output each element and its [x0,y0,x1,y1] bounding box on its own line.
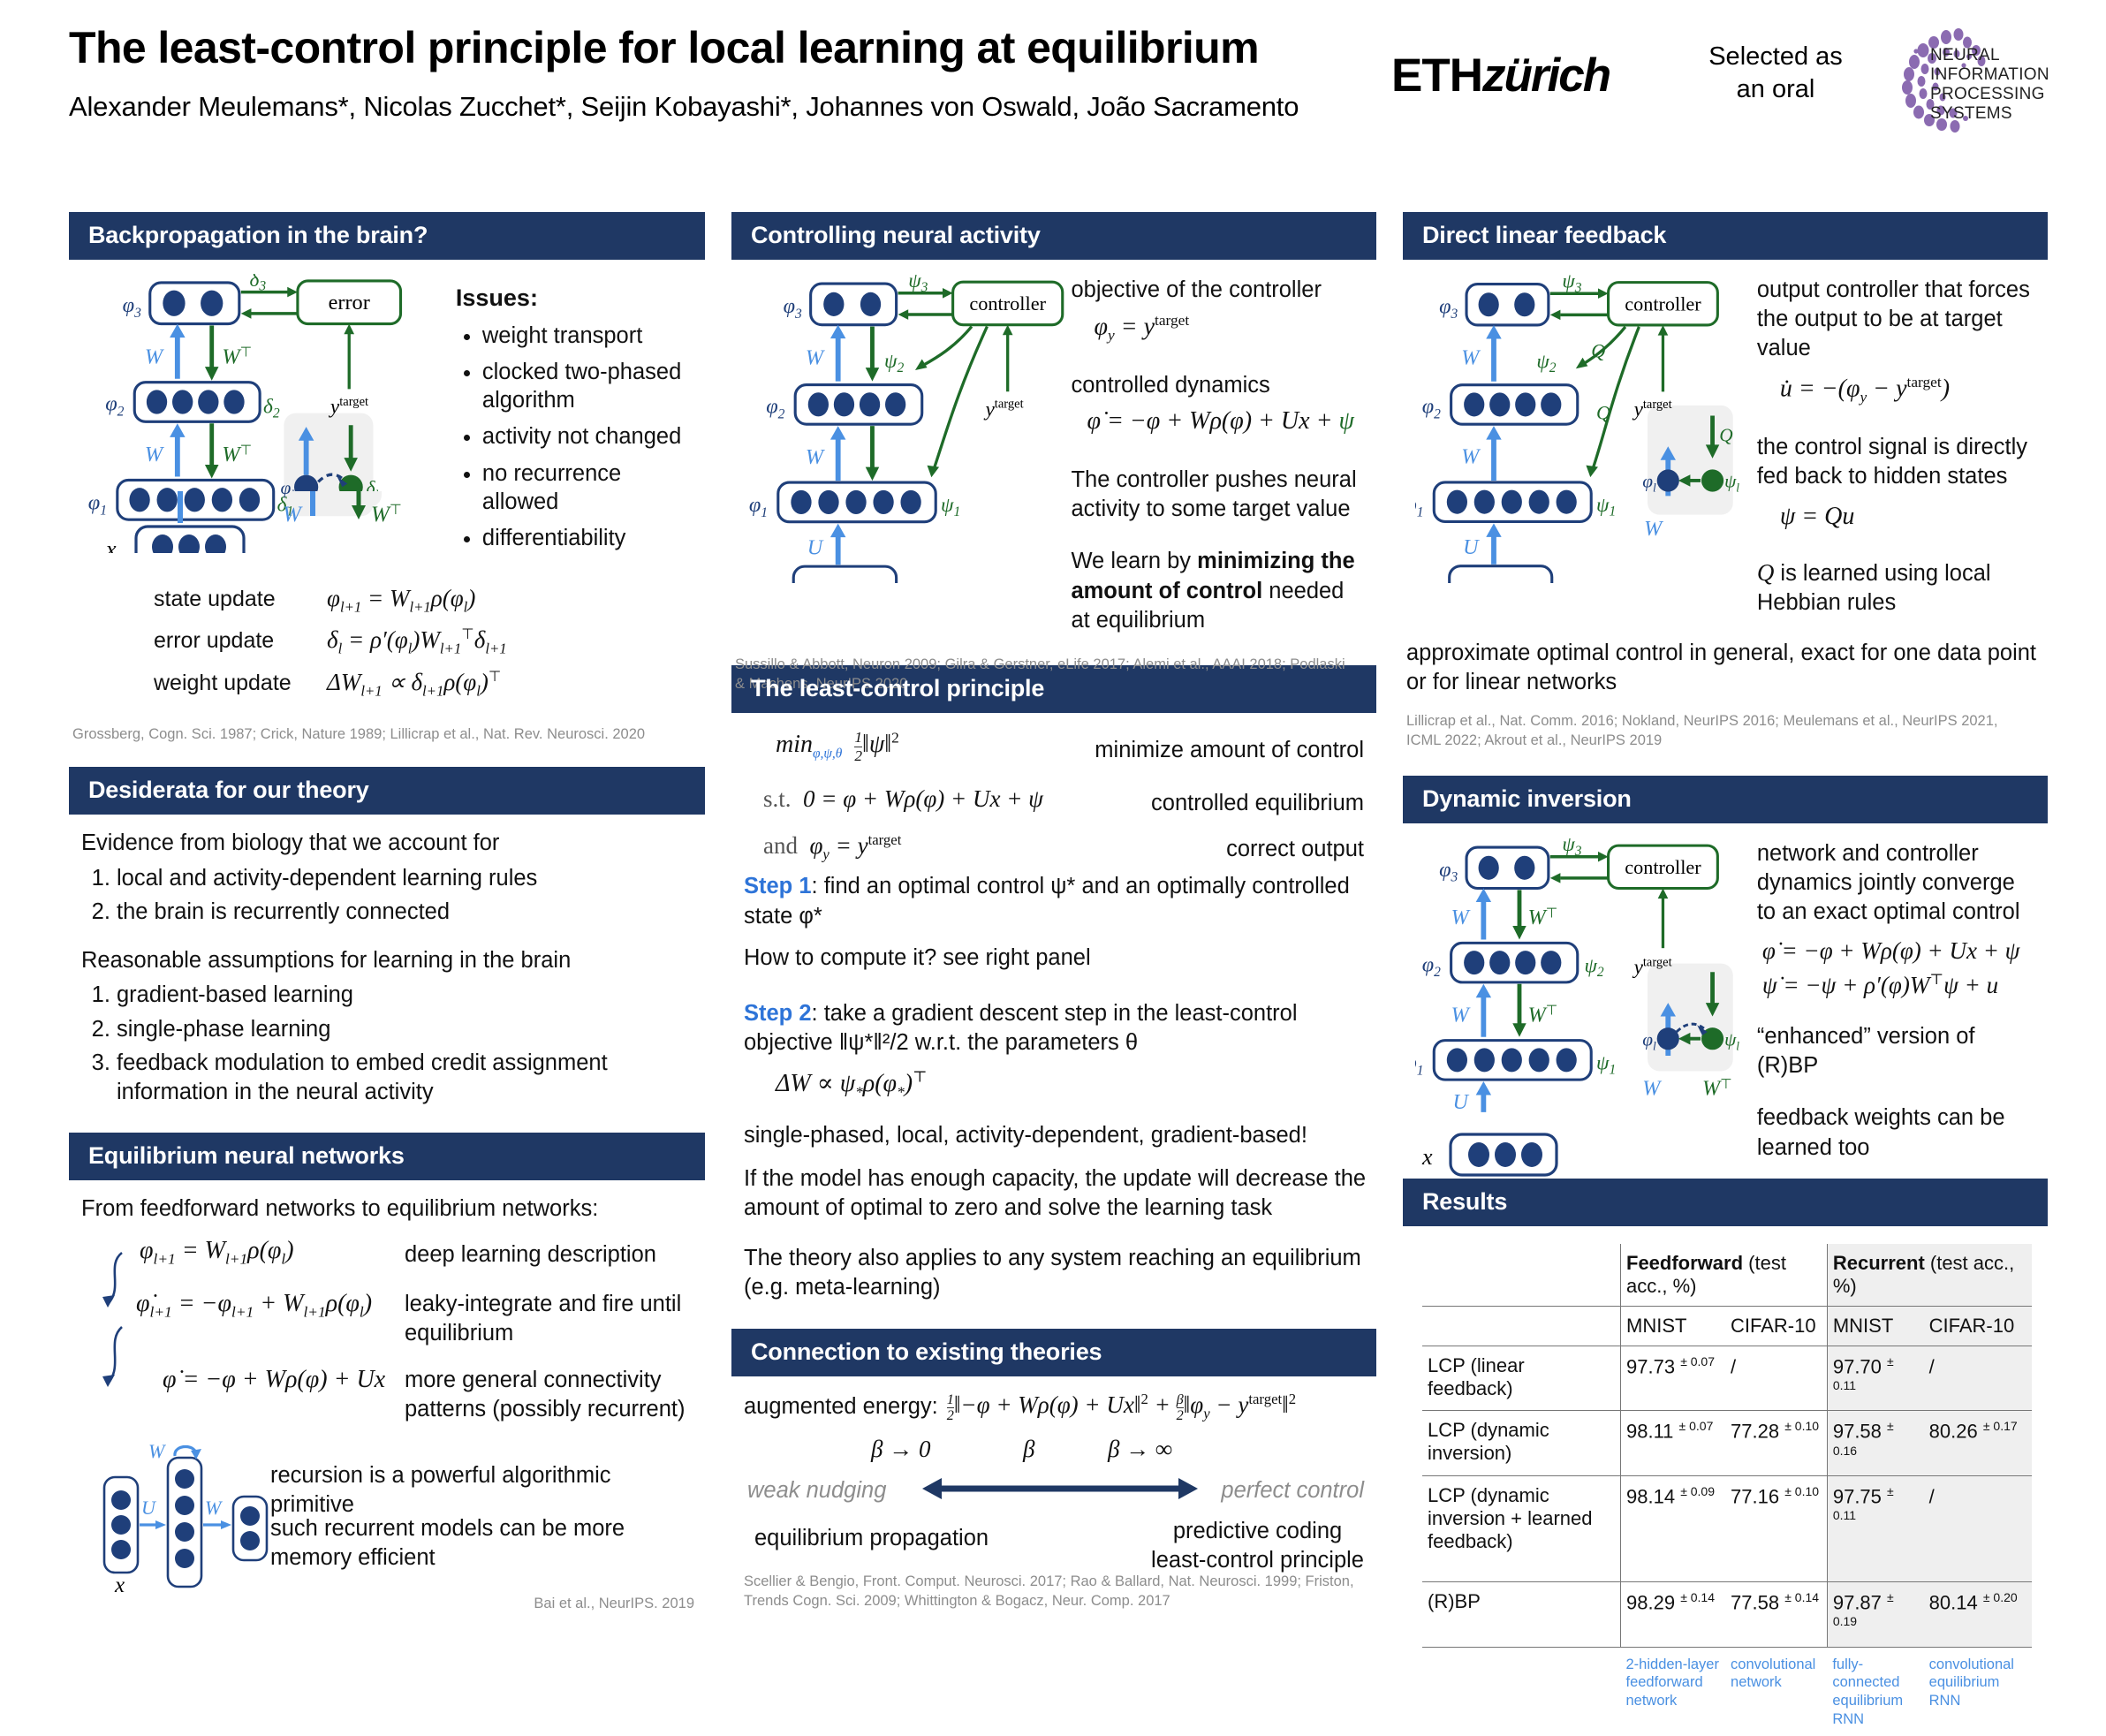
equilibrium-equation-1: φl+1 = Wl+1ρ(φl) [140,1237,294,1269]
svg-text:ψ1: ψ1 [941,494,960,519]
svg-text:Q: Q [1719,425,1732,446]
dlf-psi-equation: ψ = Qu [1780,503,2039,531]
table-column-header-row: MNIST CIFAR-10 MNIST CIFAR-10 [1422,1306,2032,1346]
neurips-wordmark: NEURAL INFORMATION PROCESSING SYSTEMS [1930,46,2049,124]
issues-title: Issues: [456,283,696,314]
cell-error: ± 0.14 [1680,1590,1715,1604]
dyninv-body: φ3 controller ψ3 ytarget W W⊤ [1403,823,2048,1163]
controlling-p2-pre: We learn by [1071,549,1197,573]
list-item: feedback modulation to embed credit assi… [117,1049,696,1106]
dlf-reference: Lillicrap et al., Nat. Comm. 2016; Nokla… [1403,697,2034,751]
eth-logo-italic: zürich [1482,49,1610,102]
controlled-dynamics-label: controlled dynamics [1071,371,1367,400]
table-row: LCP (dynamic inversion + learned feedbac… [1422,1476,2032,1582]
cell-number: 97.58 [1833,1421,1882,1443]
svg-text:W: W [205,1497,223,1519]
section-connection: Connection to existing theories augmente… [731,1329,1376,1611]
equilibrium-note-1: recursion is a powerful algorithmic prim… [270,1461,694,1520]
desiderata-lead-2: Reasonable assumptions for learning in t… [81,946,696,975]
desiderata-list-2: gradient-based learning single-phase lea… [81,981,696,1107]
cell-number: 77.16 [1731,1485,1779,1507]
equilibrium-desc-1: deep learning description [405,1240,656,1270]
section-header-controlling: Controlling neural activity [731,212,1376,260]
svg-text:x: x [114,1573,125,1596]
equation-label: weight update [154,671,327,696]
svg-text:φ3: φ3 [1439,858,1458,885]
equilibrium-desc-3: more general connectivity patterns (poss… [405,1366,696,1424]
oral-line-2: an oral [1683,73,1868,106]
svg-text:ψl: ψl [1724,471,1739,495]
equation-label: state update [154,587,327,612]
neurips-line-3: PROCESSING [1930,85,2049,104]
cell-error: ± 0.17 [1983,1419,2018,1433]
list-item: single-phase learning [117,1015,696,1044]
step1-tag: Step 1 [744,874,812,898]
dyninv-psi-equation: ψ̇ = −ψ + ρ′(φ)W⊤ψ + u [1762,970,2039,999]
brace-icon [97,1242,133,1401]
svg-text:W: W [1461,445,1481,469]
lcp-objective-equation: minφ,ψ,θ 12‖ψ‖2 [776,729,899,763]
svg-text:controller: controller [1625,293,1701,315]
controlled-dynamics-equation: φ̇ = −φ + Wρ(φ) + Ux + ψ [1087,407,1367,436]
group-header-recurrent-bold: Recurrent [1833,1252,1925,1274]
cell-number: 80.26 [1929,1421,1978,1443]
equilibrium-note-2: such recurrent models can be more memory… [270,1514,694,1573]
col-header-mnist-ff: MNIST [1621,1306,1726,1346]
cell-number: 97.73 [1626,1355,1675,1377]
section-header-backprop: Backpropagation in the brain? [69,212,705,260]
list-item: gradient-based learning [117,981,696,1010]
svg-text:W⊤: W⊤ [1702,1076,1732,1100]
column-left: Backpropagation in the brain? φ3 error [69,212,705,1601]
equilibrium-body: From feedforward networks to equilibrium… [69,1180,705,1600]
cell-error: ± 0.10 [1784,1419,1819,1433]
lcp-annotation-2: controlled equilibrium [1151,789,1364,818]
least-control-principle-label: least-control principle [1151,1546,1364,1575]
dyninv-input-layer: x [1415,1133,1645,1182]
step2-text: : take a gradient descent step in the le… [744,1001,1298,1055]
cell-error: ± 0.09 [1680,1484,1715,1498]
neurips-line-4: SYSTEMS [1930,104,2049,124]
equation-row: weight update ΔWl+1 ∝ δl+1ρ(φl)⊤ [154,667,705,700]
svg-text:ψ1: ψ1 [1596,1051,1616,1077]
svg-text:Q: Q [1591,340,1605,362]
svg-text:x: x [1421,1144,1433,1170]
svg-text:W: W [1461,345,1481,369]
cell-value: 98.29 ± 0.14 [1621,1582,1726,1648]
lcp-paragraph-2: If the model has enough capacity, the up… [744,1164,1367,1223]
row-label: LCP (dynamic inversion + learned feedbac… [1422,1476,1621,1582]
neurips-line-1: NEURAL [1930,46,2049,65]
svg-text:φ1: φ1 [1415,1050,1424,1078]
section-header-connection: Connection to existing theories [731,1329,1376,1376]
lcp-weight-update-equation: ΔW ∝ ψ*ρ(φ*)⊤ [776,1068,1367,1102]
cell-number: 98.14 [1626,1485,1675,1507]
cell-number: 97.75 [1833,1485,1882,1507]
svg-text:W⊤: W⊤ [222,345,252,368]
cell-value: 77.16 ± 0.10 [1725,1476,1827,1582]
poster-root: The least-control principle for local le… [0,0,2106,1488]
augmented-energy-equation: 12‖−φ + Wρ(φ) + Ux‖2 + β2‖φy − ytarget‖2 [947,1391,1296,1422]
svg-text:U: U [807,536,824,560]
svg-text:x: x [765,577,776,583]
backprop-network-diagram: φ3 error δ3 ytarget [81,274,451,530]
beta-infinity-label: β → ∞ [1108,1436,1172,1463]
svg-text:U: U [1463,535,1480,559]
controlling-paragraph-1: The controller pushes neural activity to… [1071,466,1367,524]
svg-text:U: U [141,1497,157,1519]
svg-text:W: W [1644,517,1663,541]
cell-value: 77.28 ± 0.10 [1725,1411,1827,1476]
svg-text:W: W [806,445,826,469]
cell-value: 77.58 ± 0.14 [1725,1582,1827,1648]
step2-tag: Step 2 [744,1001,812,1026]
dyninv-paragraph-3: feedback weights can be learned too [1757,1103,2039,1162]
connection-reference: Scellier & Bengio, Front. Comput. Neuros… [744,1572,1362,1611]
eth-zurich-logo: ETHzürich [1391,49,1610,102]
lcp-step1: Step 1: find an optimal control ψ* and a… [744,872,1367,930]
oral-badge: Selected as an oral [1683,41,1868,106]
step1-text: : find an optimal control ψ* and an opti… [744,874,1350,928]
empty-cell [1422,1647,1621,1736]
predictive-coding-label: predictive coding [1151,1517,1364,1546]
empty-cell [1422,1306,1621,1346]
footnote-ff-cifar: convolutional network [1725,1647,1827,1736]
row-label: (R)BP [1422,1582,1621,1648]
equation-row: state update φl+1 = Wl+1ρ(φl) [154,585,705,616]
empty-corner-cell [1422,1244,1621,1307]
dlf-paragraph-3: Q is learned using local Hebbian rules [1757,557,2039,618]
svg-text:W: W [145,443,165,466]
cell-value: 98.14 ± 0.09 [1621,1476,1726,1582]
cell-number: 98.29 [1626,1591,1675,1613]
controller-objective-label: objective of the controller [1071,276,1367,305]
svg-text:ψ2: ψ2 [1536,350,1556,375]
cell-value: 98.11 ± 0.07 [1621,1411,1726,1476]
oral-line-1: Selected as [1683,41,1868,73]
cell-error: ± 0.20 [1983,1590,2018,1604]
lcp-annotation-1: minimize amount of control [1095,736,1364,765]
svg-text:W: W [283,503,303,527]
state-update-equation: φl+1 = Wl+1ρ(φl) [327,585,475,616]
section-results: Results Feedforward (test acc., %) Recur… [1403,1179,2048,1736]
beta-spectrum-arrow-icon [919,1471,1201,1506]
backprop-reference: Grossberg, Cogn. Sci. 1987; Crick, Natur… [69,709,705,744]
cell-value: 80.26 ± 0.17 [1924,1411,2032,1476]
svg-text:φ2: φ2 [105,392,124,420]
list-item: activity not changed [482,422,696,451]
results-body: Feedforward (test acc., %) Recurrent (te… [1403,1226,2048,1736]
svg-text:δ2: δ2 [263,396,280,421]
eth-logo-bold: ETH [1391,49,1482,102]
table-footnote-row: 2-hidden-layer feedforward network convo… [1422,1647,2032,1736]
footnote-rec-cifar: convolutional equilibrium RNN [1924,1647,2032,1736]
neurips-logo: NEURAL INFORMATION PROCESSING SYSTEMS [1877,25,2054,140]
dlf-body: φ3 controller ψ3 Q Q ytarget [1403,260,2048,618]
cell-value: 97.87 ± 0.19 [1827,1582,1923,1648]
weight-update-equation: ΔWl+1 ∝ δl+1ρ(φl)⊤ [327,667,501,700]
cell-error: ± 0.07 [1679,1419,1714,1433]
weak-nudging-label: weak nudging [747,1476,886,1505]
svg-text:ytarget: ytarget [983,398,1023,421]
section-header-dyninv: Dynamic inversion [1403,776,2048,823]
cell-value: / [1924,1346,2032,1411]
lcp-constraint-equation: s.t. 0 = φ + Wρ(φ) + Ux + ψ [763,785,1043,813]
cell-value: / [1725,1346,1827,1411]
section-header-desiderata: Desiderata for our theory [69,767,705,815]
svg-text:ψ2: ψ2 [884,350,904,375]
beta-zero-label: β → 0 [871,1436,930,1463]
cell-error: ± 0.14 [1784,1590,1819,1604]
section-header-dlf: Direct linear feedback [1403,212,2048,260]
svg-text:controller: controller [1625,856,1701,878]
table-row: LCP (dynamic inversion) 98.11 ± 0.07 77.… [1422,1411,2032,1476]
lcp-step1-question: How to compute it? see right panel [744,944,1367,973]
cell-error: ± 0.07 [1680,1354,1715,1368]
cell-number: 97.70 [1833,1355,1882,1377]
lcp-step2: Step 2: take a gradient descent step in … [744,999,1367,1058]
column-middle: Controlling neural activity φ3 controlle… [731,212,1376,1611]
cell-number: 80.14 [1929,1591,1978,1613]
svg-text:φ1: φ1 [1415,493,1424,520]
perfect-control-label: perfect control [1221,1476,1364,1505]
backprop-equations: state update φl+1 = Wl+1ρ(φl) error upda… [69,553,705,700]
section-controlling: Controlling neural activity φ3 controlle… [731,212,1376,694]
cell-value: 97.73 ± 0.07 [1621,1346,1726,1411]
svg-text:φ3: φ3 [1439,294,1458,322]
dlf-q-symbol: Q [1757,559,1775,586]
svg-text:φ3: φ3 [123,293,141,321]
col-header-mnist-rec: MNIST [1827,1306,1923,1346]
svg-text:φ1: φ1 [88,490,107,518]
cell-number: 98.11 [1626,1421,1673,1443]
svg-text:ψ2: ψ2 [1584,954,1603,980]
beta-mid-label: β [1023,1436,1034,1463]
svg-text:φ2: φ2 [1422,952,1441,980]
dyninv-paragraph-2: “enhanced” version of (R)BP [1757,1022,2039,1080]
dlf-paragraph-4: approximate optimal control in general, … [1403,618,2048,697]
section-direct-linear-feedback: Direct linear feedback φ3 controller ψ3 [1403,212,2048,751]
section-lcp: The least-control principle minφ,ψ,θ 12‖… [731,665,1376,1302]
results-table: Feedforward (test acc., %) Recurrent (te… [1422,1244,2032,1736]
cell-number: / [1929,1355,1935,1377]
dlf-paragraph-2: the control signal is directly fed back … [1757,433,2039,491]
lcp-body: minφ,ψ,θ 12‖ψ‖2 minimize amount of contr… [731,713,1376,1302]
column-right: Direct linear feedback φ3 controller ψ3 [1403,212,2048,1736]
list-item: the brain is recurrently connected [117,898,696,927]
table-row: LCP (linear feedback) 97.73 ± 0.07 / 97.… [1422,1346,2032,1411]
dyninv-phi-equation: φ̇ = −φ + Wρ(φ) + Ux + ψ [1762,937,2039,965]
svg-text:W: W [148,1442,166,1462]
section-dynamic-inversion: Dynamic inversion φ3 controller ψ3 [1403,776,2048,1182]
svg-text:φ2: φ2 [1422,395,1441,422]
group-header-feedforward-bold: Feedforward [1626,1252,1743,1274]
desiderata-lead-1: Evidence from biology that we account fo… [81,829,696,858]
cell-error: ± 0.10 [1784,1484,1819,1498]
svg-text:W: W [806,345,826,369]
list-item: clocked two-phased algorithm [482,358,696,414]
equation-row: error update δl = ρ′(φl)Wl+1⊤δl+1 [154,625,705,657]
section-backprop: Backpropagation in the brain? φ3 error [69,212,705,744]
controlling-paragraph-2: We learn by minimizing the amount of con… [1071,547,1367,634]
svg-text:W: W [1451,906,1471,929]
cell-number: / [1929,1485,1935,1507]
augmented-energy-label: augmented energy: [744,1392,938,1421]
svg-text:φ2: φ2 [766,395,784,422]
cell-value: 97.58 ± 0.16 [1827,1411,1923,1476]
cell-value: / [1924,1476,2032,1582]
list-item: differentiability [482,524,696,552]
equilibrium-propagation-label: equilibrium propagation [754,1524,989,1553]
issues-list: weight transport clocked two-phased algo… [456,322,696,552]
lcp-paragraph-1: single-phased, local, activity-dependent… [744,1121,1367,1150]
svg-text:ψ3: ψ3 [908,274,928,295]
group-header-feedforward: Feedforward (test acc., %) [1621,1244,1828,1307]
cell-value: 97.75 ± 0.11 [1827,1476,1923,1582]
cell-number: / [1731,1355,1736,1377]
svg-text:ψ1: ψ1 [1596,494,1616,519]
group-header-recurrent: Recurrent (test acc., %) [1827,1244,2032,1307]
dyninv-paragraph-1: network and controller dynamics jointly … [1757,839,2039,927]
row-label: LCP (dynamic inversion) [1422,1411,1621,1476]
cell-number: 77.58 [1731,1591,1779,1613]
svg-text:ψl: ψl [1724,1028,1739,1052]
dlf-paragraph-1: output controller that forces the output… [1757,276,2039,363]
svg-text:U: U [1453,1090,1470,1114]
section-equilibrium: Equilibrium neural networks From feedfor… [69,1133,705,1600]
connection-body: augmented energy: 12‖−φ + Wρ(φ) + Ux‖2 +… [731,1376,1376,1611]
svg-text:ψ3: ψ3 [1562,838,1581,859]
svg-text:W: W [145,345,165,368]
row-label: LCP (linear feedback) [1422,1346,1621,1411]
svg-text:ψ3: ψ3 [1562,274,1581,295]
cell-value: 97.70 ± 0.11 [1827,1346,1923,1411]
error-update-equation: δl = ρ′(φl)Wl+1⊤δl+1 [327,625,507,657]
cell-number: 97.87 [1833,1591,1882,1613]
equilibrium-desc-2: leaky-integrate and fire until equilibri… [405,1290,687,1348]
equilibrium-lead: From feedforward networks to equilibrium… [81,1194,696,1224]
footnote-rec-mnist: fully-connected equilibrium RNN [1827,1647,1923,1736]
lcp-output-equation: and φy = ytarget [763,831,901,863]
svg-text:error: error [329,291,370,315]
section-header-equilibrium: Equilibrium neural networks [69,1133,705,1180]
svg-text:controller: controller [969,292,1046,315]
lcp-paragraph-3: The theory also applies to any system re… [744,1244,1367,1302]
table-row: (R)BP 98.29 ± 0.14 77.58 ± 0.14 97.87 ± … [1422,1582,2032,1648]
svg-text:δ3: δ3 [249,274,266,294]
lcp-annotation-3: correct output [1226,835,1364,864]
equilibrium-equation-3: φ̇ = −φ + Wρ(φ) + Ux [163,1366,385,1394]
svg-text:W: W [1642,1076,1662,1100]
svg-text:W⊤: W⊤ [1528,906,1558,929]
svg-text:φ3: φ3 [784,294,802,322]
controller-objective-equation: φy = ytarget [1094,312,1367,345]
equilibrium-reference: Bai et al., NeurIPS. 2019 [534,1594,694,1613]
list-item: weight transport [482,322,696,350]
equilibrium-equation-2: φ̇l+1 = −φl+1 + Wl+1ρ(φl) [136,1290,372,1322]
dlf-control-equation: u̇ = −(φy − ytarget) [1780,374,2039,406]
controlling-network-diagram: φ3 controller ψ3 [744,274,1071,583]
col-header-cifar-ff: CIFAR-10 [1725,1306,1827,1346]
svg-text:W: W [1451,1003,1471,1027]
svg-text:x: x [1421,577,1432,583]
controlling-body: φ3 controller ψ3 [731,260,1376,635]
svg-text:W⊤: W⊤ [222,443,252,466]
svg-text:φ1: φ1 [749,493,768,520]
equation-label: error update [154,628,327,654]
section-desiderata: Desiderata for our theory Evidence from … [69,767,705,1106]
dyninv-network-diagram: φ3 controller ψ3 ytarget W W⊤ [1415,838,1757,1120]
footnote-ff-mnist: 2-hidden-layer feedforward network [1621,1647,1726,1736]
cell-number: 77.28 [1731,1421,1779,1443]
dlf-network-diagram: φ3 controller ψ3 Q Q ytarget [1415,274,1757,583]
neurips-line-2: INFORMATION [1930,65,2049,85]
list-item: no recurrence allowed [482,459,696,516]
col-header-cifar-rec: CIFAR-10 [1924,1306,2032,1346]
section-header-results: Results [1403,1179,2048,1226]
svg-text:Q: Q [1596,401,1610,423]
cell-value: 80.14 ± 0.20 [1924,1582,2032,1648]
desiderata-body: Evidence from biology that we account fo… [69,815,705,1106]
svg-text:x: x [105,536,117,553]
desiderata-list-1: local and activity-dependent learning ru… [81,864,696,927]
svg-text:W⊤: W⊤ [1528,1003,1558,1027]
dlf-p3-text: is learned using local Hebbian rules [1757,561,1991,615]
list-item: local and activity-dependent learning ru… [117,864,696,893]
table-group-header-row: Feedforward (test acc., %) Recurrent (te… [1422,1244,2032,1307]
